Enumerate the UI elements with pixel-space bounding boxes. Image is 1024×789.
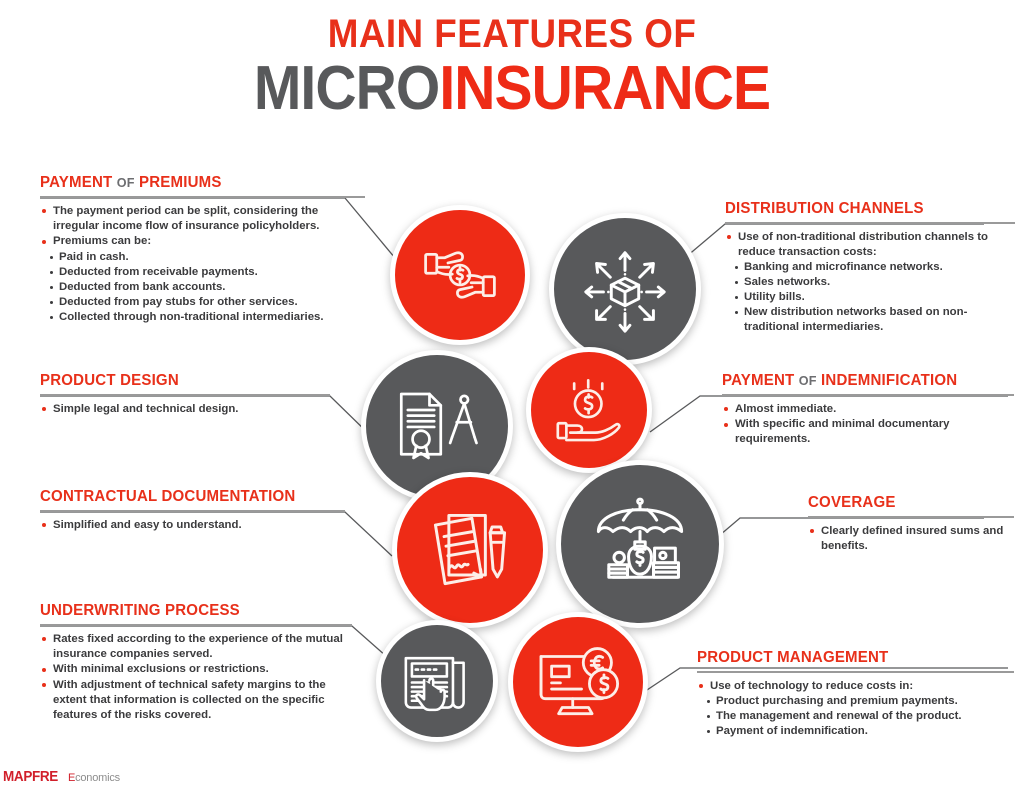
icon-circle-underwriting-process[interactable] [376, 620, 498, 742]
list-item: With minimal exclusions or restrictions. [40, 662, 352, 677]
economics-initial: E [68, 772, 75, 784]
title-word-of: OF [799, 373, 817, 388]
list-item: Payment of indemnification. [706, 724, 1014, 739]
bullet-list: Use of non-traditional distribution chan… [725, 230, 1015, 260]
list-item: Paid in cash. [49, 250, 365, 265]
title-word-of: OF [117, 175, 135, 190]
title-word-payment: PAYMENT [722, 372, 794, 389]
title-word-payment: PAYMENT [40, 174, 112, 191]
section-product-design: PRODUCT DESIGN Simple legal and technica… [40, 372, 330, 417]
section-rule [40, 394, 330, 396]
list-item: With specific and minimal documentary re… [722, 417, 1014, 447]
contract-documents-pen-icon [422, 502, 518, 598]
icon-circle-payment-of-indemnification[interactable] [526, 347, 652, 473]
bullet-list: Simple legal and technical design. [40, 402, 330, 417]
section-rule [808, 516, 1014, 518]
section-payment-of-indemnification: PAYMENT OF INDEMNIFICATION Almost immedi… [722, 372, 1014, 448]
section-rule [40, 624, 352, 626]
footer-logo: MAPFRE Economics [0, 768, 120, 785]
bullet-list: Use of technology to reduce costs in: [697, 679, 1014, 694]
umbrella-over-money-icon [588, 492, 692, 596]
section-rule [725, 222, 1015, 224]
bullet-list: Almost immediate. With specific and mini… [722, 402, 1014, 448]
list-item: Banking and microfinance networks. [734, 260, 1015, 275]
section-distribution-channels: DISTRIBUTION CHANNELS Use of non-traditi… [725, 200, 1015, 335]
bullet-list: The payment period can be split, conside… [40, 204, 365, 250]
list-item: Product purchasing and premium payments. [706, 694, 1014, 709]
list-item: Deducted from receivable payments. [49, 265, 365, 280]
title-word-indemnification: INDEMNIFICATION [821, 372, 957, 389]
bullet-list: Clearly defined insured sums and benefit… [808, 524, 1014, 554]
page-title: MAIN FEATURES OF MICROINSURANCE [0, 14, 1024, 121]
list-item: Premiums can be: [40, 234, 365, 249]
icon-circle-payment-of-premiums[interactable] [390, 205, 530, 345]
list-item: Use of non-traditional distribution chan… [725, 230, 1015, 260]
list-item: Rates fixed according to the experience … [40, 632, 352, 662]
list-item: Deducted from bank accounts. [49, 280, 365, 295]
certificate-and-compass-icon [390, 379, 484, 473]
section-title-contractual-documentation: CONTRACTUAL DOCUMENTATION [40, 488, 336, 506]
title-word-insurance: INSURANCE [439, 54, 770, 123]
list-item: Deducted from pay stubs for other servic… [49, 295, 365, 310]
list-item: Utility bills. [734, 290, 1015, 305]
icon-circle-distribution-channels[interactable] [549, 213, 701, 365]
title-word-micro: MICRO [254, 54, 440, 123]
section-rule [722, 394, 1014, 396]
list-item: Collected through non-traditional interm… [49, 310, 365, 325]
list-item: With adjustment of technical safety marg… [40, 678, 352, 723]
section-contractual-documentation: CONTRACTUAL DOCUMENTATION Simplified and… [40, 488, 345, 533]
section-rule [697, 671, 1014, 673]
section-title-product-design: PRODUCT DESIGN [40, 372, 321, 390]
section-payment-of-premiums: PAYMENT OF PREMIUMS The payment period c… [40, 174, 365, 325]
list-item: Simple legal and technical design. [40, 402, 330, 417]
section-rule [40, 510, 345, 512]
section-title-distribution-channels: DISTRIBUTION CHANNELS [725, 200, 1006, 218]
section-title-product-management: PRODUCT MANAGEMENT [697, 649, 1004, 667]
section-title-coverage: COVERAGE [808, 494, 1008, 512]
section-title-payment-of-premiums: PAYMENT OF PREMIUMS [40, 174, 355, 192]
hands-exchanging-money-icon [417, 232, 503, 318]
list-item: Almost immediate. [722, 402, 1014, 417]
economics-label: Economics [68, 772, 120, 784]
section-underwriting-process: UNDERWRITING PROCESS Rates fixed accordi… [40, 602, 352, 723]
icon-circle-product-management[interactable] [508, 612, 648, 752]
list-item: New distribution networks based on non-t… [734, 305, 1015, 335]
icon-circle-contractual-documentation[interactable] [392, 472, 548, 628]
list-item: Use of technology to reduce costs in: [697, 679, 1014, 694]
list-item: The management and renewal of the produc… [706, 709, 1014, 724]
sub-bullet-list: Product purchasing and premium payments.… [706, 694, 1014, 739]
bullet-list: Rates fixed according to the experience … [40, 632, 352, 723]
list-item: Clearly defined insured sums and benefit… [808, 524, 1014, 554]
sub-bullet-list: Paid in cash. Deducted from receivable p… [49, 250, 365, 325]
infographic-root: MAIN FEATURES OF MICROINSURANCE [0, 0, 1024, 789]
monitor-euro-dollar-icon [534, 638, 622, 726]
section-product-management: PRODUCT MANAGEMENT Use of technology to … [697, 649, 1014, 739]
title-line-1: MAIN FEATURES OF [41, 14, 983, 54]
section-title-payment-of-indemnification: PAYMENT OF INDEMNIFICATION [722, 372, 1005, 390]
title-line-2: MICROINSURANCE [41, 56, 983, 121]
section-rule [40, 196, 365, 198]
hand-receiving-coin-icon [550, 371, 628, 449]
list-item: Simplified and easy to understand. [40, 518, 345, 533]
list-item: Sales networks. [734, 275, 1015, 290]
list-item: The payment period can be split, conside… [40, 204, 365, 234]
box-distribution-arrows-icon [576, 240, 674, 338]
economics-rest: conomics [75, 772, 120, 784]
icon-circle-coverage[interactable] [556, 460, 724, 628]
title-word-premiums: PREMIUMS [139, 174, 222, 191]
section-title-underwriting-process: UNDERWRITING PROCESS [40, 602, 343, 620]
mapfre-wordmark: MAPFRE [3, 768, 58, 785]
document-pointing-hand-icon [399, 643, 475, 719]
bullet-list: Simplified and easy to understand. [40, 518, 345, 533]
sub-bullet-list: Banking and microfinance networks. Sales… [734, 260, 1015, 335]
section-coverage: COVERAGE Clearly defined insured sums an… [808, 494, 1014, 554]
